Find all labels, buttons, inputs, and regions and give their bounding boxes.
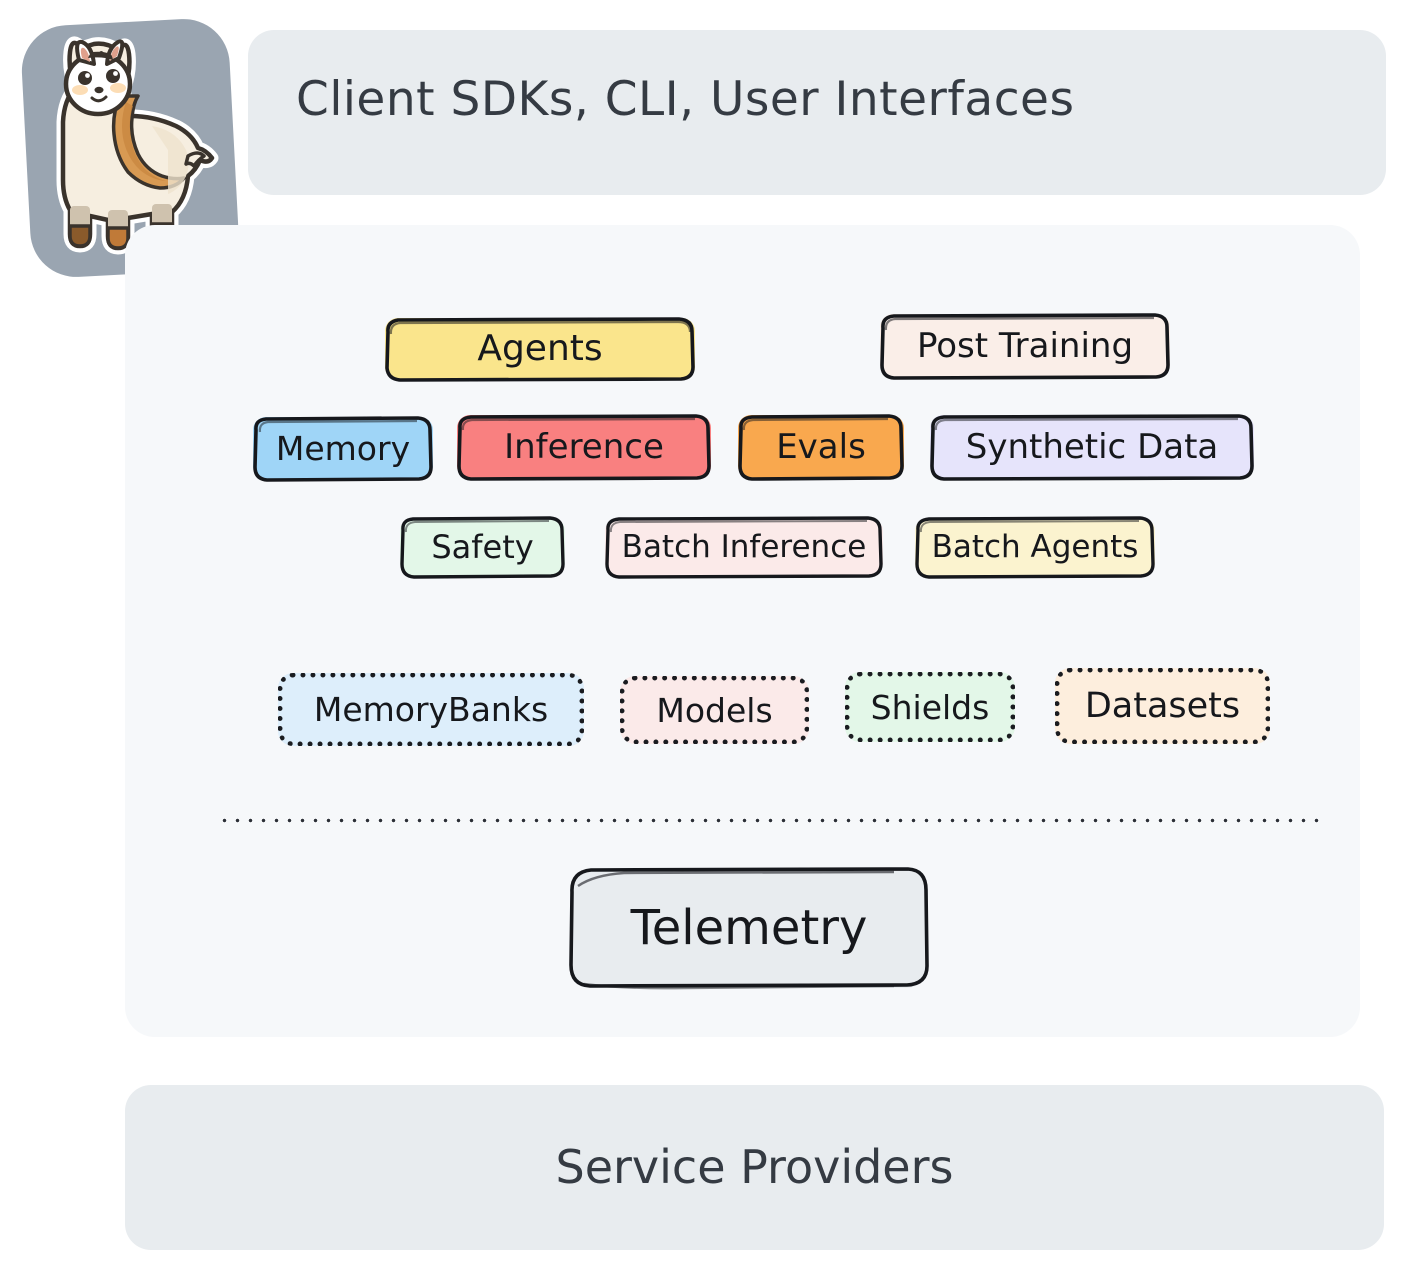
api-box-label: Batch Agents <box>932 532 1139 563</box>
resource-box-models[interactable]: Models <box>620 676 809 744</box>
resource-box-datasets[interactable]: Datasets <box>1055 668 1270 744</box>
api-box-label: Evals <box>776 430 866 464</box>
resource-box-label: Datasets <box>1085 689 1240 724</box>
api-box-label: Post Training <box>917 329 1133 363</box>
api-box-batch-inference[interactable]: Batch Inference <box>605 518 883 576</box>
resource-box-label: Models <box>656 694 772 727</box>
service-providers-title: Service Providers <box>125 1140 1410 1194</box>
telemetry-label: Telemetry <box>631 904 868 952</box>
api-box-label: Synthetic Data <box>966 430 1219 464</box>
api-box-post-training[interactable]: Post Training <box>880 314 1170 378</box>
api-box-memory[interactable]: Memory <box>253 417 433 479</box>
api-box-label: Memory <box>276 432 410 465</box>
api-box-safety[interactable]: Safety <box>400 518 565 576</box>
resource-box-label: Shields <box>871 691 990 724</box>
api-box-batch-agents[interactable]: Batch Agents <box>915 518 1155 576</box>
api-box-evals[interactable]: Evals <box>738 415 904 479</box>
api-box-label: Safety <box>431 531 533 563</box>
api-box-label: Agents <box>477 331 602 367</box>
section-divider <box>218 818 1322 823</box>
header-title: Client SDKs, CLI, User Interfaces <box>296 72 1256 127</box>
api-box-label: Inference <box>504 430 664 464</box>
resource-box-memorybanks[interactable]: MemoryBanks <box>278 673 584 746</box>
telemetry-box[interactable]: Telemetry <box>570 868 928 988</box>
resource-box-shields[interactable]: Shields <box>845 672 1015 742</box>
api-box-synthetic-data[interactable]: Synthetic Data <box>930 415 1254 479</box>
api-box-label: Batch Inference <box>622 532 867 563</box>
api-box-agents[interactable]: Agents <box>385 318 695 380</box>
resource-box-label: MemoryBanks <box>314 693 548 726</box>
api-box-inference[interactable]: Inference <box>457 415 711 479</box>
